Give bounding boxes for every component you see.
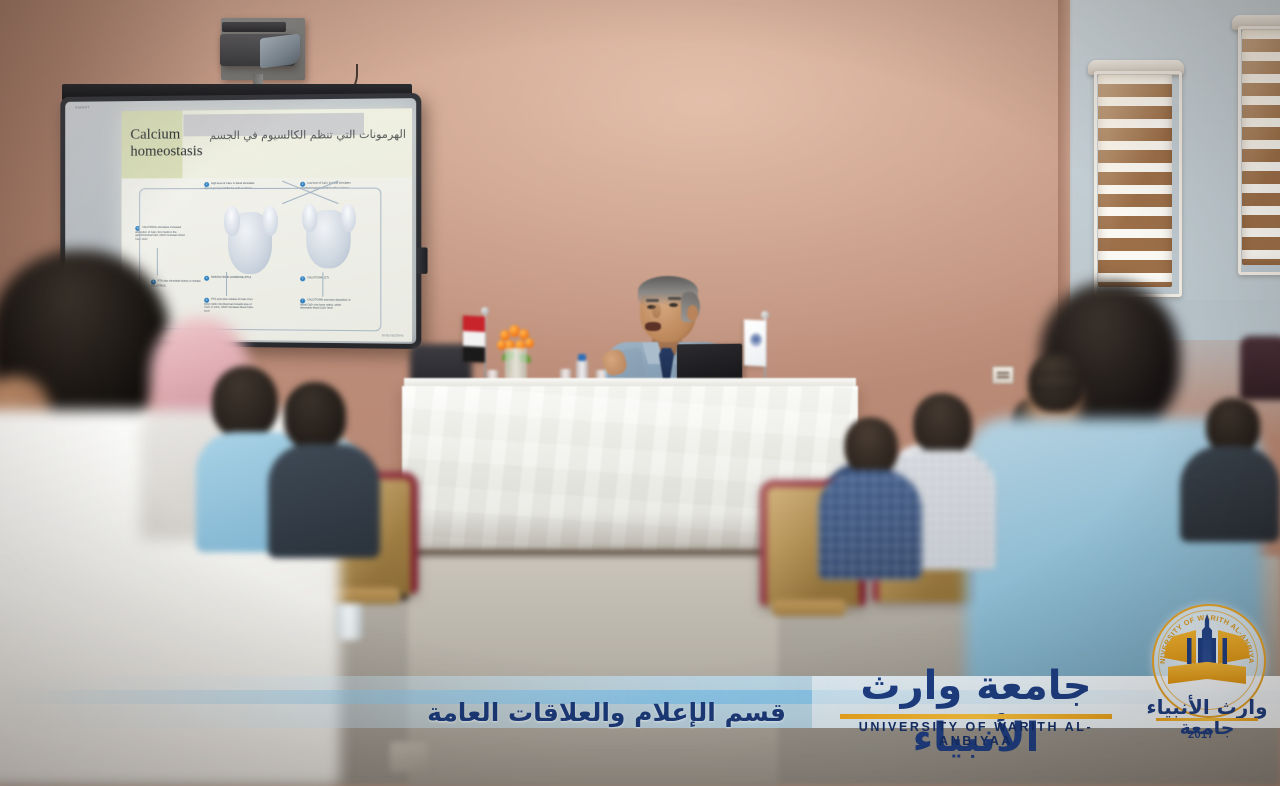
seal-gold-underline — [1156, 718, 1258, 721]
seat-armrest — [772, 600, 846, 616]
wordmark-english: UNIVERSITY OF WARITH AL-ANBIYAA — [834, 720, 1118, 748]
presenter-brow — [668, 297, 681, 300]
diagram-step: 3CALCITRIOL stimulates increased absorpt… — [135, 226, 186, 241]
presenter-ear — [687, 305, 698, 321]
projected-slide: الهرمونات التي تنظم الكالسيوم في الجسم C… — [122, 108, 413, 342]
diagram-connector — [322, 272, 323, 296]
diagram-step: 8PTH also stimulates kidney to release C… — [151, 280, 202, 289]
wall-corner — [1058, 0, 1074, 330]
presenter-brow — [646, 299, 659, 302]
presenter-mouth — [645, 322, 661, 331]
flower-bloom — [525, 338, 534, 348]
diagram-connector — [139, 188, 381, 332]
attendee-head — [212, 366, 278, 438]
thyroid-lobe — [262, 206, 278, 236]
seal-year: 2017 — [1188, 729, 1214, 741]
slide-title: الهرمونات التي تنظم الكالسيوم في الجسم C… — [130, 125, 406, 161]
attendee-head — [846, 418, 898, 476]
parathyroid-gland-illustration — [306, 210, 351, 269]
university-seal: UNIVERSITY OF WARITH AL-ANBIYAA وارث الأ… — [1146, 600, 1268, 752]
seal-arabic-line-1: وارث الأنبياء — [1146, 696, 1268, 718]
presenter-nose — [652, 304, 661, 318]
window-frame-left — [1094, 71, 1182, 297]
seal-knot-ornament — [1184, 638, 1230, 664]
diagram-connector — [157, 248, 158, 276]
diagram-connector — [226, 272, 227, 296]
water-cup — [336, 604, 362, 640]
attendee-shirt — [268, 444, 380, 558]
lecture-hall-photo: SMART الهرمونات التي تنظم الكالسيوم في ا… — [0, 0, 1280, 786]
diagram-step: 4PARATHYROID HORMONE (PTH) — [204, 276, 256, 281]
attendee-head — [916, 394, 972, 456]
iraq-flag-icon — [463, 315, 485, 362]
slide-title-arabic: الهرمونات التي تنظم الكالسيوم في الجسم — [209, 126, 406, 145]
eyeglasses-icon — [1032, 372, 1082, 390]
attendee-shirt — [818, 470, 922, 580]
diagram-step: 6PTH promotes release of Ca2+ from bone … — [204, 298, 256, 314]
thyroid-lobe — [224, 206, 240, 236]
board-side-clip — [417, 247, 427, 273]
window-frame-right — [1238, 26, 1280, 275]
power-outlet-icon — [992, 366, 1014, 384]
university-flag-emblem — [750, 333, 762, 347]
diagram-step: 5CALCITONIN (CT) — [300, 276, 353, 281]
presenter-eye — [669, 303, 678, 307]
slide-header-band — [122, 108, 413, 178]
seat-armrest — [330, 588, 400, 604]
diagram-step: 7CALCITONIN promotes deposition of blood… — [300, 298, 353, 310]
department-label: قسم الإعلام والعلاقات العامة — [0, 698, 800, 727]
board-corner-label: interactive — [382, 332, 404, 337]
thyroid-gland-illustration — [228, 212, 272, 274]
board-brand-label: SMART — [75, 105, 90, 110]
diagram-connector — [282, 180, 338, 204]
center-aisle — [408, 556, 778, 786]
diagram-step: 2Low level of Ca2+ in blood stimulates p… — [300, 182, 353, 191]
floor-object — [390, 742, 428, 772]
university-wordmark: جامعة وارث الأنبياء UNIVERSITY OF WARITH… — [826, 658, 1126, 748]
audience-body — [1180, 446, 1280, 542]
wordmark-arabic: جامعة وارث الأنبياء — [826, 660, 1126, 764]
diagram-connector — [282, 181, 338, 204]
slide-title-backdrop — [183, 113, 364, 137]
slide-title-english: Calcium homeostasis — [130, 126, 202, 159]
diagram-connector — [200, 188, 290, 189]
projector-top-tray — [222, 22, 286, 32]
parathyroid-lobe — [302, 204, 317, 232]
diagram-step: 1High level of Ca2+ in blood stimulates … — [204, 182, 256, 191]
attendee-head — [284, 382, 346, 450]
parathyroid-lobe — [341, 204, 356, 232]
slide-accent-block — [122, 111, 183, 179]
side-chair — [1240, 336, 1280, 400]
wordmark-gold-rule — [840, 714, 1112, 719]
